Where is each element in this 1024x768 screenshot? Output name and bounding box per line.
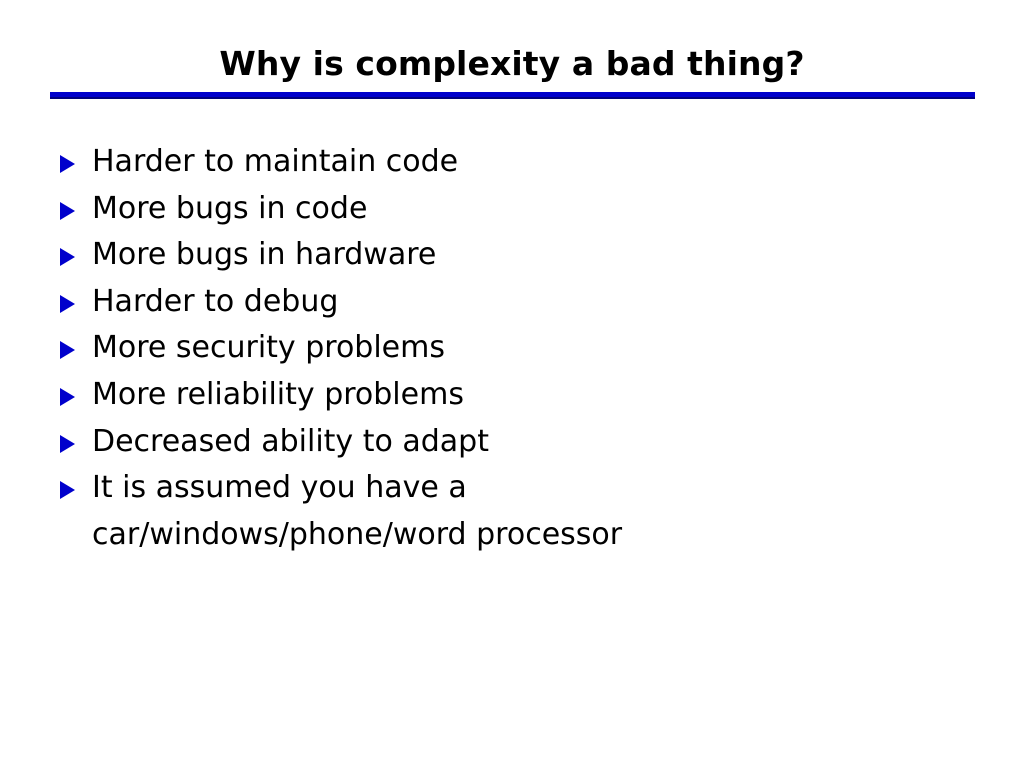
list-item: Harder to debug <box>58 279 998 326</box>
list-item: More bugs in code <box>58 186 998 233</box>
title-underline-rule <box>50 92 975 99</box>
list-item-label: Harder to maintain code <box>92 139 998 186</box>
list-item: More reliability problems <box>58 372 998 419</box>
list-item-label: It is assumed you have a car/windows/pho… <box>92 465 652 558</box>
list-item: More security problems <box>58 325 998 372</box>
list-item-label: More bugs in hardware <box>92 232 998 279</box>
list-item: Decreased ability to adapt <box>58 419 998 466</box>
triangle-right-icon <box>60 295 75 313</box>
list-item-label: Decreased ability to adapt <box>92 419 998 466</box>
triangle-right-icon <box>60 155 75 173</box>
triangle-right-icon <box>60 202 75 220</box>
presentation-slide: Why is complexity a bad thing? Harder to… <box>0 0 1024 768</box>
list-item-label: More reliability problems <box>92 372 998 419</box>
triangle-right-icon <box>60 341 75 359</box>
slide-title-block: Why is complexity a bad thing? <box>0 44 1024 84</box>
bullet-list: Harder to maintain code More bugs in cod… <box>58 139 998 558</box>
list-item-label: Harder to debug <box>92 279 998 326</box>
list-item-label: More bugs in code <box>92 186 998 233</box>
triangle-right-icon <box>60 481 75 499</box>
list-item: Harder to maintain code <box>58 139 998 186</box>
list-item: More bugs in hardware <box>58 232 998 279</box>
triangle-right-icon <box>60 435 75 453</box>
triangle-right-icon <box>60 248 75 266</box>
triangle-right-icon <box>60 388 75 406</box>
list-item: It is assumed you have a car/windows/pho… <box>58 465 652 558</box>
page-title: Why is complexity a bad thing? <box>0 44 1024 84</box>
list-item-label: More security problems <box>92 325 998 372</box>
